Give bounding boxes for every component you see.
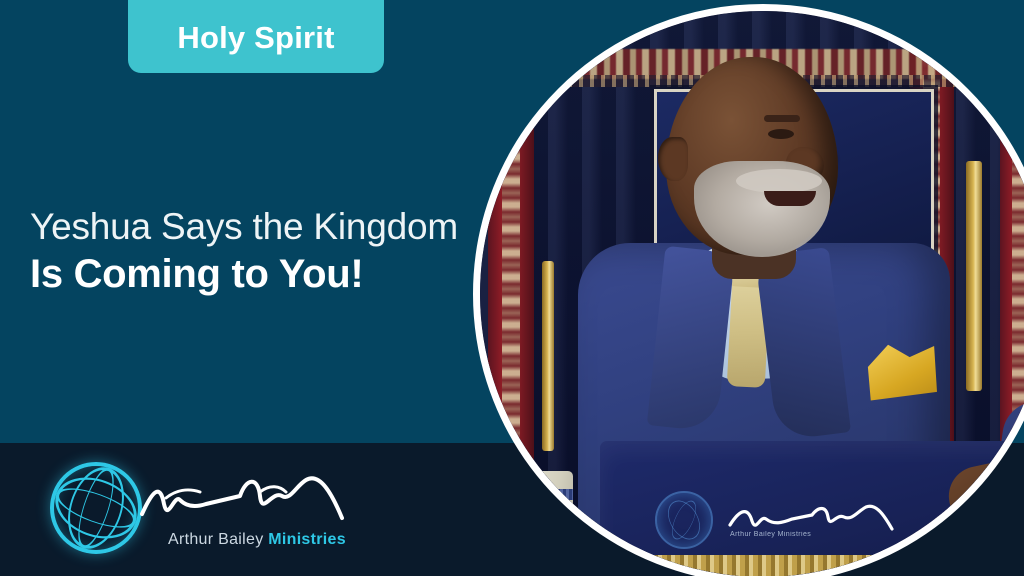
mug-emblem-icon bbox=[528, 507, 560, 541]
page-title: Yeshua Says the Kingdom Is Coming to You… bbox=[30, 205, 500, 298]
brand-wordmark: Arthur Bailey Ministries bbox=[168, 532, 346, 548]
title-line-1: Yeshua Says the Kingdom bbox=[30, 205, 500, 249]
portrait-image: ?ד bbox=[480, 11, 1024, 576]
brand-logo[interactable]: Arthur Bailey Ministries bbox=[44, 452, 344, 564]
thumbnail-canvas: ?ד bbox=[0, 0, 1024, 576]
globe-latitude-2 bbox=[47, 467, 145, 549]
signature-icon bbox=[136, 470, 346, 534]
speaker-mustache bbox=[736, 169, 822, 193]
speaker-eye bbox=[768, 129, 794, 139]
speaker-mouth bbox=[764, 191, 816, 206]
podium-logo-caption: Arthur Bailey Ministries bbox=[730, 531, 811, 538]
speaker-eyebrow bbox=[764, 115, 800, 122]
speaker-portrait-circle: ?ד bbox=[473, 4, 1024, 576]
brand-suffix: Ministries bbox=[264, 531, 346, 548]
gold-trim-bottom bbox=[480, 555, 1024, 576]
category-badge[interactable]: Holy Spirit bbox=[128, 0, 384, 73]
globe-icon bbox=[50, 462, 142, 554]
title-line-2: Is Coming to You! bbox=[30, 251, 500, 298]
category-badge-label: Holy Spirit bbox=[177, 16, 334, 53]
brand-name: Arthur Bailey bbox=[168, 531, 264, 548]
mug-band-top bbox=[515, 489, 573, 500]
speaker-ear bbox=[658, 137, 688, 181]
podium-globe-icon bbox=[655, 491, 713, 549]
finger-ring bbox=[978, 527, 1024, 545]
